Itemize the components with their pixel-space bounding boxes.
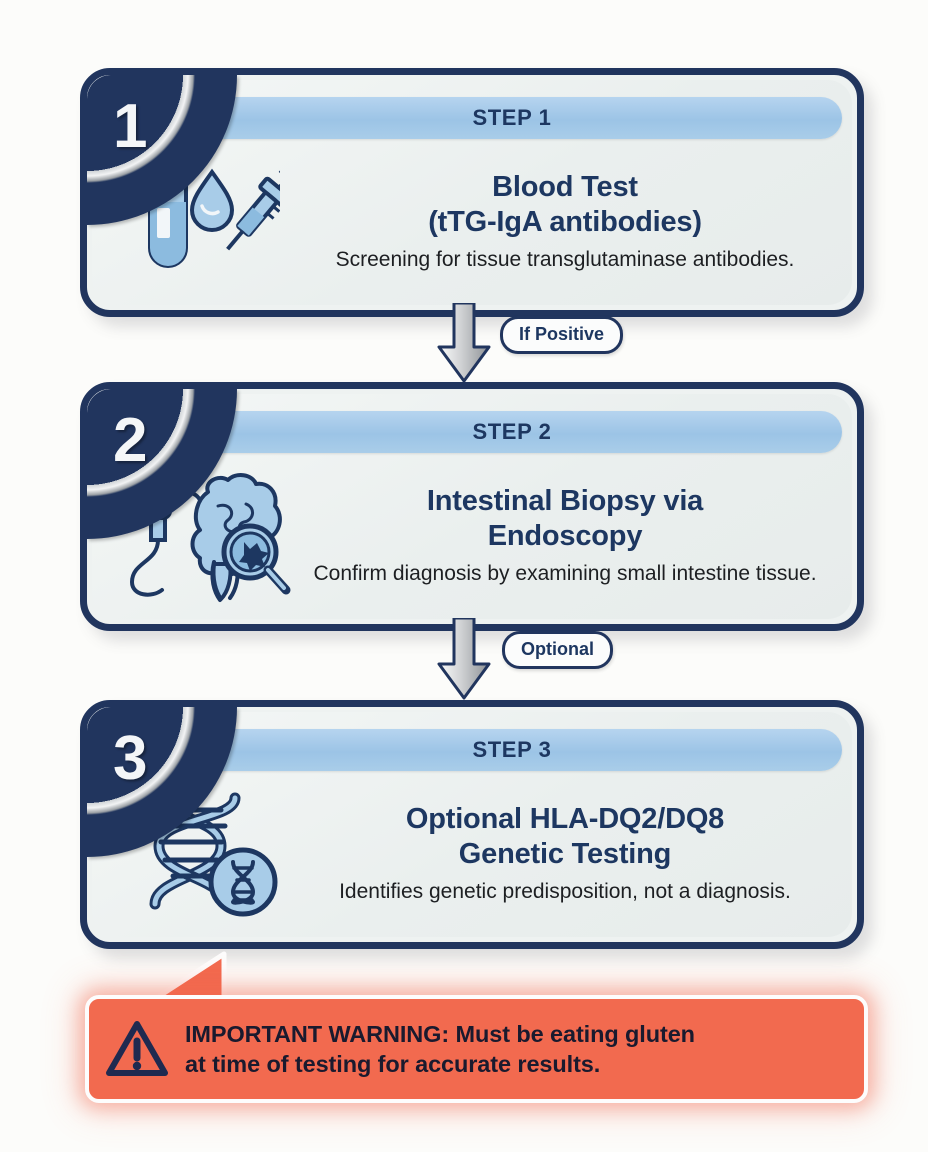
card-title-2-line1: Intestinal Biopsy via: [305, 484, 825, 518]
card-text-3: Optional HLA-DQ2/DQ8 Genetic Testing Ide…: [305, 802, 839, 904]
step-header-bar-3: STEP 3: [182, 729, 842, 771]
card-description-2: Confirm diagnosis by examining small int…: [305, 561, 825, 587]
step-number-3: 3: [113, 723, 146, 794]
connector-label-1: If Positive: [500, 316, 623, 354]
card-description-1: Screening for tissue transglutaminase an…: [305, 247, 825, 273]
warning-triangle-icon: [89, 1019, 185, 1079]
card-body-3: Optional HLA-DQ2/DQ8 Genetic Testing Ide…: [105, 779, 839, 928]
card-title-2-line2: Endoscopy: [305, 519, 825, 553]
connector-label-2: Optional: [502, 631, 613, 669]
card-text-2: Intestinal Biopsy via Endoscopy Confirm …: [305, 484, 839, 586]
warning-text: IMPORTANT WARNING: Must be eating gluten…: [185, 1019, 864, 1079]
connector-2: Optional: [0, 618, 928, 702]
card-body-1: Blood Test (tTG-IgA antibodies) Screenin…: [105, 147, 839, 296]
step-number-1: 1: [113, 91, 146, 162]
card-title-1-line1: Blood Test: [305, 170, 825, 204]
card-text-1: Blood Test (tTG-IgA antibodies) Screenin…: [305, 170, 839, 272]
card-title-1-line2: (tTG-IgA antibodies): [305, 205, 825, 239]
step-card-2[interactable]: 2 STEP 2: [80, 382, 864, 631]
card-title-3: Optional HLA-DQ2/DQ8 Genetic Testing: [305, 802, 825, 870]
step-number-2: 2: [113, 405, 146, 476]
card-description-3: Identifies genetic predisposition, not a…: [305, 879, 825, 905]
step-card-3[interactable]: 3 STEP 3: [80, 700, 864, 949]
warning-text-line2: at time of testing for accurate results.: [185, 1049, 846, 1079]
step-label-2: STEP 2: [472, 419, 551, 445]
card-title-3-line2: Genetic Testing: [305, 837, 825, 871]
arrow-down-icon-2: [432, 618, 496, 705]
card-title-3-line1: Optional HLA-DQ2/DQ8: [305, 802, 825, 836]
arrow-down-icon-1: [432, 303, 496, 388]
step-header-bar-1: STEP 1: [182, 97, 842, 139]
card-body-2: Intestinal Biopsy via Endoscopy Confirm …: [105, 461, 839, 610]
card-title-1: Blood Test (tTG-IgA antibodies): [305, 170, 825, 238]
important-warning-banner: IMPORTANT WARNING: Must be eating gluten…: [85, 995, 868, 1103]
infographic-canvas: 1 STEP 1: [0, 0, 928, 1152]
step-header-bar-2: STEP 2: [182, 411, 842, 453]
step-label-3: STEP 3: [472, 737, 551, 763]
connector-1: If Positive: [0, 303, 928, 383]
step-label-1: STEP 1: [472, 105, 551, 131]
warning-text-line1: IMPORTANT WARNING: Must be eating gluten: [185, 1019, 846, 1049]
card-title-2: Intestinal Biopsy via Endoscopy: [305, 484, 825, 552]
step-card-1[interactable]: 1 STEP 1: [80, 68, 864, 317]
